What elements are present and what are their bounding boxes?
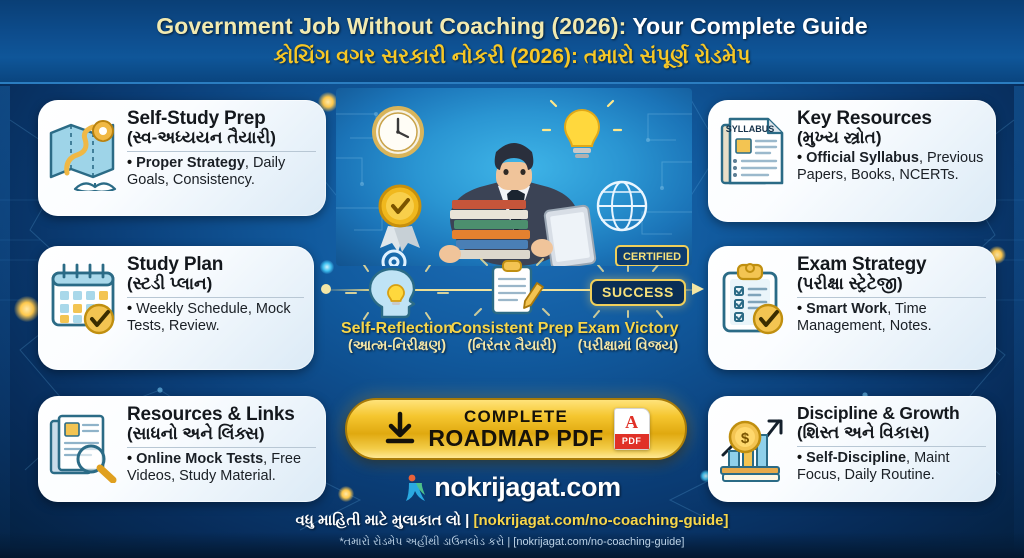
poster-header: Government Job Without Coaching (2026): … [0,0,1024,84]
footer-cta-url[interactable]: [nokrijagat.com/no-coaching-guide] [474,512,729,529]
map-book-icon [46,109,120,191]
footer-cta-line: વધુ માહિતી માટે મુલાકાત લો | [nokrijagat… [0,512,1024,529]
card-title: Self-Study Prep [127,109,316,128]
page-title: Government Job Without Coaching (2026): … [156,13,868,40]
success-badge: SUCCESS [590,279,686,306]
card-body: Self-Study Prep (સ્વ-અધ્યયન તૈયારી) • Pr… [127,109,316,189]
card-self-study-prep[interactable]: Self-Study Prep (સ્વ-અધ્યયન તૈયારી) • Pr… [38,100,326,216]
success-badge-wrap: SUCCESS [553,265,703,321]
card-title: Resources & Links [127,405,316,424]
cta-line-1: COMPLETE [428,408,603,425]
bullet-icon: • [127,451,132,467]
syllabus-document-icon: SYLLABUS [716,109,790,189]
card-description-highlight: Smart Work [806,301,887,317]
download-icon [382,410,418,448]
flow-step-label: Exam Victory [553,321,703,338]
card-description: • Official Syllabus, Previous Papers, Bo… [797,150,986,184]
page-subtitle-gujarati: કોચિંગ વગર સરકારી નોકરી (2026): તમારો સં… [273,45,750,69]
card-title-gujarati: (પરીક્ષા સ્ટ્રેટેજી) [797,275,986,294]
bullet-icon: • [797,301,802,317]
gear-icon [383,251,405,266]
calendar-check-icon [46,255,120,335]
pdf-file-icon: A PDF [614,408,650,450]
card-description: • Smart Work, Time Management, Notes. [797,301,986,335]
download-roadmap-pdf-button[interactable]: COMPLETE ROADMAP PDF A PDF [345,398,687,460]
infographic-poster: Government Job Without Coaching (2026): … [0,0,1024,558]
card-description-rest: Weekly Schedule, Mock Tests, Review. [127,301,291,334]
divider [797,297,986,298]
bullet-icon: • [127,301,132,317]
brand-name: nokrijagat.com [434,472,620,503]
card-title-gujarati: (સ્વ-અધ્યયન તૈયારી) [127,129,316,148]
card-title-gujarati: (સ્ટડી પ્લાન) [127,275,304,294]
bullet-icon: • [127,155,132,171]
svg-text:SYLLABUS: SYLLABUS [726,124,775,134]
divider [127,447,316,448]
page-title-part-2: Your Complete Guide [626,13,867,39]
svg-text:$: $ [741,430,750,447]
pdf-label: PDF [615,434,649,449]
flow-step-exam-victory: SUCCESS Exam Victory (પરીક્ષામાં વિજય) [553,265,703,355]
cta-line-2: ROADMAP PDF [428,427,603,450]
hero-figure-svg: CERTIFIED [336,88,692,266]
card-title-gujarati: (સાધનો અને લિંક્સ) [127,425,316,444]
divider [797,446,986,447]
card-body: Exam Strategy (પરીક્ષા સ્ટ્રેટેજી) • Sma… [797,255,986,335]
card-study-plan[interactable]: Study Plan (સ્ટડી પ્લાન) • Weekly Schedu… [38,246,314,370]
clock-icon [374,108,422,156]
bullet-icon: • [797,150,802,166]
card-title: Study Plan [127,255,304,274]
clipboard-check-icon [716,255,790,337]
certified-badge-label: CERTIFIED [623,251,681,263]
cta-text: COMPLETE ROADMAP PDF [428,408,603,450]
lightbulb-icon [543,101,621,158]
card-description: • Proper Strategy, Daily Goals, Consiste… [127,155,316,189]
globe-icon [598,182,646,230]
flow-step-label-gujarati: (પરીક્ષામાં વિજય) [553,339,703,355]
card-key-resources[interactable]: SYLLABUS Key Resources (મુખ્ય સ્ત્રોત) •… [708,100,996,222]
card-title-gujarati: (શિસ્ત અને વિકાસ) [797,424,986,443]
card-body: Study Plan (સ્ટડી પ્લાન) • Weekly Schedu… [127,255,304,335]
award-ribbon-icon [380,186,420,252]
card-body: Key Resources (મુખ્ય સ્ત્રોત) • Official… [797,109,986,184]
nokrijagat-logo-icon [403,473,429,503]
card-title: Discipline & Growth [797,405,986,423]
hero-illustration: CERTIFIED [336,88,692,266]
card-title: Exam Strategy [797,255,986,274]
card-exam-strategy[interactable]: Exam Strategy (પરીક્ષા સ્ટ્રેટેજી) • Sma… [708,246,996,370]
card-title-gujarati: (મુખ્ય સ્ત્રોત) [797,129,986,148]
card-description-highlight: Proper Strategy [136,155,245,171]
card-description-highlight: Self-Discipline [806,450,906,466]
footer-cta-gujarati: વધુ માહિતી માટે મુલાકાત લો | [295,512,473,529]
footer-note: *તમારો રોડમેપ અહીંથી ડાઉનલોડ કરો | [nokr… [0,536,1024,549]
card-description-highlight: Official Syllabus [806,150,919,166]
certified-badge: CERTIFIED [616,246,688,266]
page-title-part-1: Government Job Without Coaching (2026): [156,13,626,39]
divider [127,151,316,152]
card-description-highlight: Online Mock Tests [136,451,263,467]
bullet-icon: • [797,450,802,466]
card-title: Key Resources [797,109,986,128]
card-description: • Weekly Schedule, Mock Tests, Review. [127,301,304,335]
brand-lockup[interactable]: nokrijagat.com [0,472,1024,503]
divider [127,297,304,298]
pdf-glyph: A [615,412,649,433]
